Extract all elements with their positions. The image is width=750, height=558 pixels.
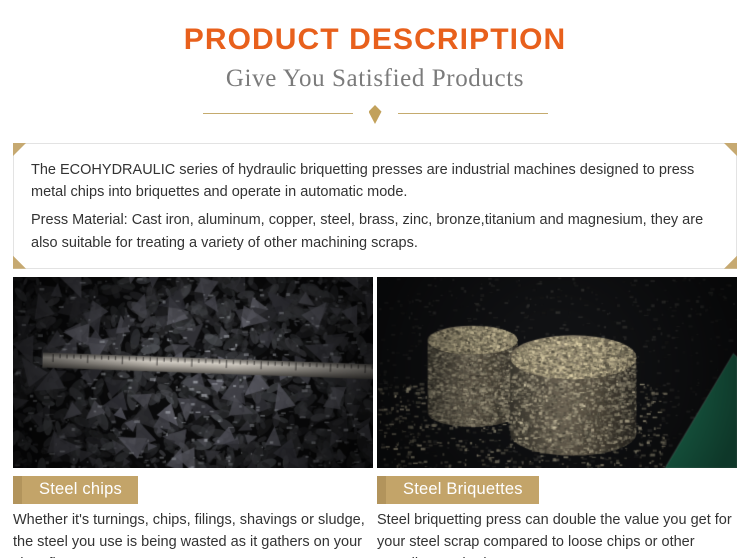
badge-row: Steel chips <box>13 476 373 505</box>
caption-steel-briquettes: Steel briquetting press can double the v… <box>377 510 737 558</box>
page-header: PRODUCT DESCRIPTION Give You Satisfied P… <box>0 0 750 126</box>
divider-rule-left <box>203 113 353 114</box>
steel-briquettes-photo <box>377 277 737 468</box>
page-title: PRODUCT DESCRIPTION <box>0 24 750 56</box>
badge-row: Steel Briquettes <box>377 476 737 505</box>
corner-accent-top-left-icon <box>13 143 26 156</box>
steel-briquettes-image <box>377 277 737 468</box>
product-card-steel-chips: Steel chips Whether it's turnings, chips… <box>13 277 373 558</box>
divider-rule-right <box>398 113 548 114</box>
status-badge-steel-chips: Steel chips <box>13 476 138 505</box>
corner-accent-bottom-right-icon <box>724 256 737 269</box>
steel-chips-photo <box>13 277 373 468</box>
steel-chips-image <box>13 277 373 468</box>
corner-accent-top-right-icon <box>724 143 737 156</box>
status-badge-steel-briquettes: Steel Briquettes <box>377 476 539 505</box>
description-paragraph-1: The ECOHYDRAULIC series of hydraulic bri… <box>31 159 719 203</box>
diamond-icon <box>369 105 382 124</box>
ornamental-divider <box>203 102 548 126</box>
product-card-steel-briquettes: Steel Briquettes Steel briquetting press… <box>377 277 737 558</box>
description-box: The ECOHYDRAULIC series of hydraulic bri… <box>13 143 737 269</box>
corner-accent-bottom-left-icon <box>13 256 26 269</box>
product-description-page: PRODUCT DESCRIPTION Give You Satisfied P… <box>0 0 750 558</box>
caption-steel-chips: Whether it's turnings, chips, filings, s… <box>13 510 373 558</box>
description-paragraph-2: Press Material: Cast iron, aluminum, cop… <box>31 209 719 253</box>
page-subtitle: Give You Satisfied Products <box>0 65 750 93</box>
product-cards: Steel chips Whether it's turnings, chips… <box>13 277 737 558</box>
